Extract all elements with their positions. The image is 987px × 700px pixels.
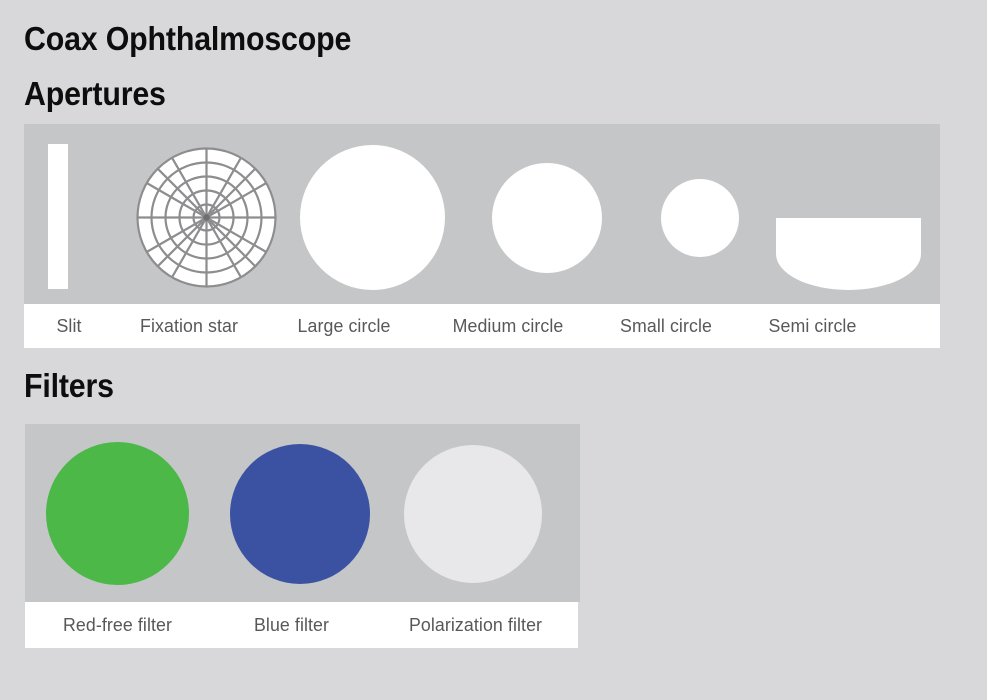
fixation-star-aperture-icon — [134, 145, 279, 290]
green-filter-icon — [46, 442, 189, 585]
semi-circle-aperture-icon — [776, 218, 921, 290]
aperture-label-medium-circle: Medium circle — [427, 315, 588, 337]
aperture-label-large-circle: Large circle — [267, 315, 421, 337]
filters-label-strip: Red-free filter Blue filter Polarization… — [25, 602, 578, 648]
page-title-line-1: Coax Ophthalmoscope — [24, 20, 351, 58]
apertures-label-strip: Slit Fixation star Large circle Medium c… — [24, 304, 940, 348]
large-circle-aperture-icon — [300, 145, 445, 290]
polarization-filter-icon — [404, 445, 542, 583]
filters-panel — [25, 424, 580, 602]
slit-aperture-icon — [48, 144, 68, 289]
page-title-line-2: Apertures — [24, 75, 166, 113]
aperture-label-slit: Slit — [26, 315, 112, 337]
filter-label-red-free: Red-free filter — [29, 614, 207, 636]
filter-label-polarization: Polarization filter — [377, 614, 574, 636]
small-circle-aperture-icon — [661, 179, 739, 257]
aperture-label-semi-circle: Semi circle — [743, 315, 882, 337]
filters-heading: Filters — [24, 367, 114, 405]
aperture-label-small-circle: Small circle — [595, 315, 737, 337]
medium-circle-aperture-icon — [492, 163, 602, 273]
filter-label-blue: Blue filter — [213, 614, 369, 636]
apertures-panel — [24, 124, 940, 304]
blue-filter-icon — [230, 444, 370, 584]
aperture-label-fixation-star: Fixation star — [117, 315, 261, 337]
